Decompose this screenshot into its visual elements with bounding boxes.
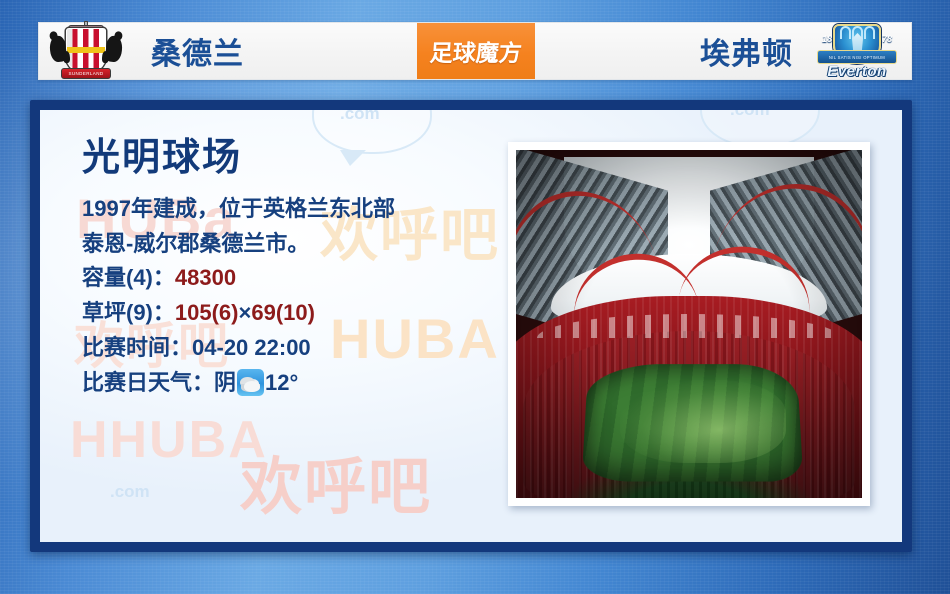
watermark-com-top: .com [340,110,380,124]
weather-temperature: 12° [265,370,298,395]
pitch-width-value: 69(10) [251,300,315,325]
sunderland-crest-icon: SUNDERLAND A.F.C. [47,22,125,80]
watermark-com-topright: .com [730,110,770,120]
photo-vignette [516,150,862,498]
away-team-name: 埃弗顿 [700,29,793,73]
card-content-area: .com .com .com HUBa 欢呼吧 HUBA 欢呼吧 HHUBA 欢… [40,110,902,542]
stadium-photo-frame[interactable] [508,142,870,506]
capacity-label: 容量(4)： [82,265,175,290]
pitch-length-value: 105(6) [175,300,239,325]
watermark-hhuba-bottom: HHUBA [70,410,268,470]
crest-band [67,47,105,53]
crest-swag-right [864,26,875,39]
match-header-bar: SUNDERLAND A.F.C. 桑德兰 足球魔方 埃弗顿 18 78 NIL… [38,22,912,80]
home-team-name: 桑德兰 [151,29,244,73]
pitch-row: 草坪(9)：105(6)×69(10) [82,296,482,331]
everton-crest-icon: 18 78 NIL SATIS NISI OPTIMUM Everton [809,22,905,80]
home-team-block[interactable]: SUNDERLAND A.F.C. 桑德兰 [39,22,417,80]
weather-label: 比赛日天气： [82,370,214,395]
capacity-value: 48300 [175,265,236,290]
crest-lion-left-icon [49,35,68,63]
stadium-title: 光明球场 [82,138,482,180]
description-line-1: 1997年建成，位于英格兰东北部 [82,192,482,227]
crest-swag-left [840,26,851,39]
pitch-label: 草坪(9)： [82,300,175,325]
site-brand-logo[interactable]: 足球魔方 [417,23,535,79]
pitch-separator: × [238,300,251,325]
crest-year-left: 18 [822,34,832,44]
description-line-2: 泰恩-威尔郡桑德兰市。 [82,227,482,262]
crest-lion-right-icon [105,35,124,63]
crest-year-right: 78 [882,34,892,44]
kickoff-label: 比赛时间： [82,335,192,360]
cloudy-icon [237,369,264,396]
weather-row: 比赛日天气：阴12° [82,366,482,401]
crest-scroll-text: SUNDERLAND A.F.C. [61,68,111,79]
stadium-details: 光明球场 1997年建成，位于英格兰东北部 泰恩-威尔郡桑德兰市。 容量(4)：… [82,138,482,400]
kickoff-value: 04-20 22:00 [192,335,311,360]
stadium-info-card: .com .com .com HUBa 欢呼吧 HUBA 欢呼吧 HHUBA 欢… [30,100,912,552]
kickoff-row: 比赛时间：04-20 22:00 [82,331,482,366]
stadium-photo [516,150,862,498]
capacity-row: 容量(4)：48300 [82,261,482,296]
away-team-block[interactable]: 埃弗顿 18 78 NIL SATIS NISI OPTIMUM Everton [535,22,911,80]
crest-motto-ribbon: NIL SATIS NISI OPTIMUM [817,50,897,64]
watermark-com-bottom: .com [110,482,150,502]
crest-club-name: Everton [809,63,905,80]
weather-condition: 阴 [214,370,236,395]
watermark-huan-bottom: 欢呼吧 [240,436,432,526]
brand-label: 足球魔方 [429,34,523,68]
